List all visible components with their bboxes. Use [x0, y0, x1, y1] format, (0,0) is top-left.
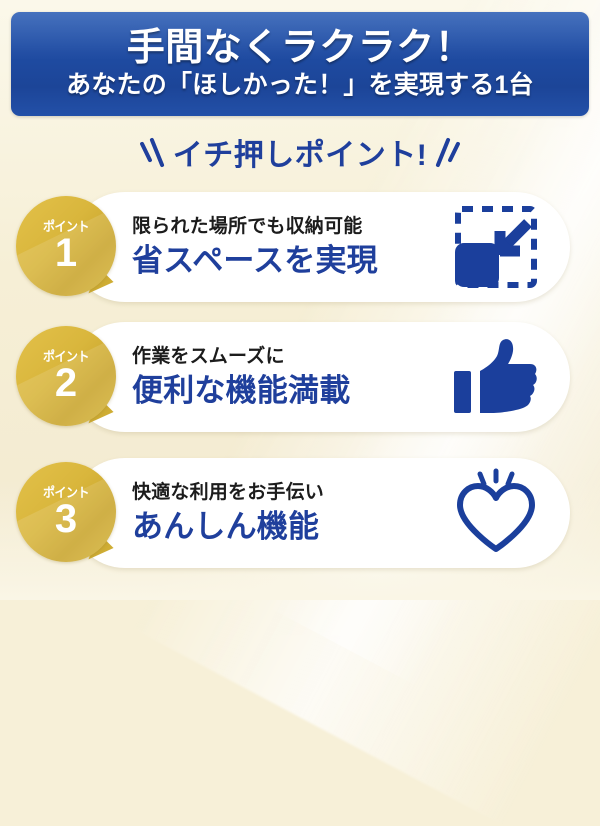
slash-mark: [448, 141, 461, 163]
point-card-3: ポイント 3 快適な利用をお手伝い あんしん機能: [70, 458, 570, 568]
point-badge-3: ポイント 3: [16, 462, 116, 562]
slash-mark: [436, 137, 451, 167]
badge-circle: ポイント 2: [16, 326, 116, 426]
badge-number: 3: [55, 500, 77, 538]
section-heading-label: イチ押しポイント!: [173, 130, 428, 174]
point-text-3: 快適な利用をお手伝い あんしん機能: [132, 481, 324, 545]
space-saving-icon: [450, 201, 542, 293]
point-card-2: ポイント 2 作業をスムーズに 便利な機能満載: [70, 322, 570, 432]
point-text-1: 限られた場所でも収納可能 省スペースを実現: [132, 215, 378, 279]
slash-marks-icon-right: [441, 137, 456, 168]
badge-number: 2: [55, 364, 77, 402]
point-headline: あんしん機能: [132, 508, 324, 545]
thumbs-up-icon: [450, 331, 542, 423]
point-badge-1: ポイント 1: [16, 196, 116, 296]
point-subtitle: 快適な利用をお手伝い: [132, 481, 324, 505]
point-subtitle: 作業をスムーズに: [132, 345, 350, 369]
header-banner: 手間なくラクラク！ あなたの「ほしかった！」を実現する1台: [11, 12, 589, 116]
badge-circle: ポイント 1: [16, 196, 116, 296]
heart-sparkle-icon: [450, 467, 542, 559]
point-headline: 便利な機能満載: [132, 372, 350, 409]
slash-mark: [149, 137, 164, 167]
badge-number: 1: [55, 234, 77, 272]
point-subtitle: 限られた場所でも収納可能: [132, 215, 378, 239]
banner-title: 手間なくラクラク！: [127, 29, 474, 69]
point-badge-2: ポイント 2: [16, 326, 116, 426]
slash-mark: [139, 141, 152, 163]
banner-subtitle: あなたの「ほしかった！」を実現する1台: [66, 71, 534, 100]
point-card-1: ポイント 1 限られた場所でも収納可能 省スペースを実現: [70, 192, 570, 302]
point-text-2: 作業をスムーズに 便利な機能満載: [132, 345, 350, 409]
section-heading: イチ押しポイント!: [0, 130, 600, 174]
badge-circle: ポイント 3: [16, 462, 116, 562]
point-headline: 省スペースを実現: [132, 242, 378, 279]
slash-marks-icon-left: [144, 137, 159, 168]
